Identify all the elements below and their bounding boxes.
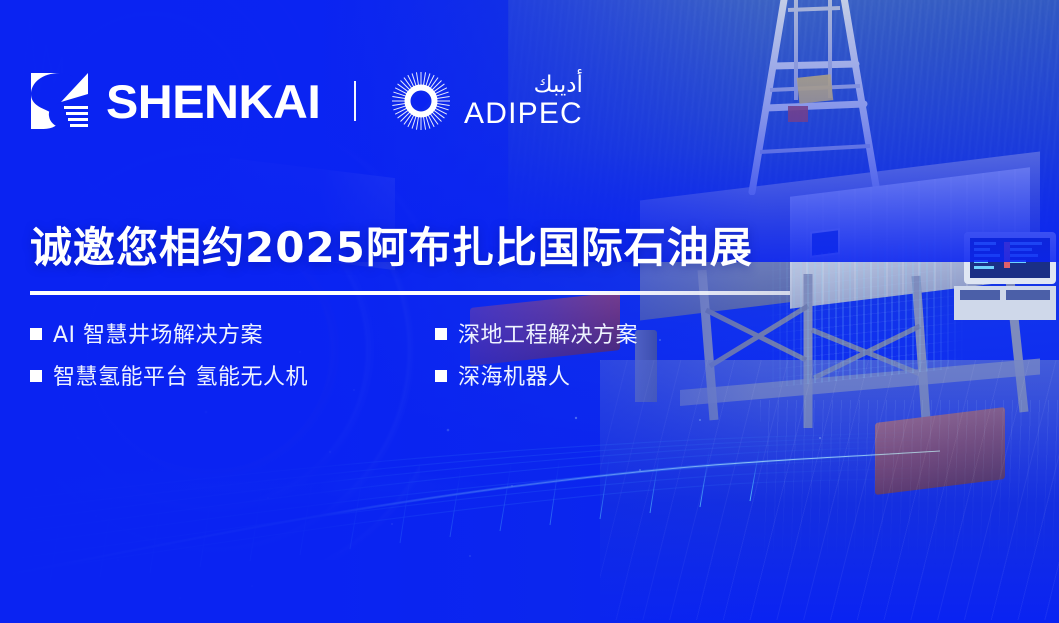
bullet-square-icon — [30, 370, 42, 382]
feature-list: AI 智慧井场解决方案 深地工程解决方案 智慧氢能平台 氢能无人机 深海机器人 — [30, 312, 730, 396]
shenkai-sk-monogram-icon — [30, 72, 92, 130]
feature-label: 智慧氢能平台 氢能无人机 — [53, 359, 308, 391]
shenkai-wordmark: SHENKAI — [106, 78, 320, 125]
bullet-square-icon — [435, 328, 447, 340]
feature-item-hydrogen: 智慧氢能平台 氢能无人机 — [30, 359, 435, 391]
headline-title: 诚邀您相约2025阿布扎比国际石油展 — [30, 224, 753, 271]
feature-label: 深地工程解决方案 — [458, 317, 638, 349]
adipec-latin-text: ADIPEC — [464, 99, 583, 129]
logo-row: SHENKAI — [30, 64, 583, 138]
adipec-logo: أديبك ADIPEC — [390, 70, 583, 132]
feature-label: 深海机器人 — [458, 359, 571, 391]
bullet-square-icon — [435, 370, 447, 382]
feature-item-ai-wellsite: AI 智慧井场解决方案 — [30, 317, 435, 349]
bullet-square-icon — [30, 328, 42, 340]
feature-label: AI 智慧井场解决方案 — [53, 317, 263, 349]
adipec-arabic-text: أديبك — [534, 74, 583, 97]
feature-item-subsea-robot: 深海机器人 — [435, 359, 725, 391]
logo-separator — [354, 81, 356, 121]
feature-item-deep-earth: 深地工程解决方案 — [435, 317, 725, 349]
adipec-sunburst-icon — [390, 70, 452, 132]
promo-banner: SHENKAI — [0, 0, 1059, 623]
feature-row: AI 智慧井场解决方案 深地工程解决方案 — [30, 312, 730, 354]
headline-divider — [30, 291, 790, 295]
feature-row: 智慧氢能平台 氢能无人机 深海机器人 — [30, 354, 730, 396]
